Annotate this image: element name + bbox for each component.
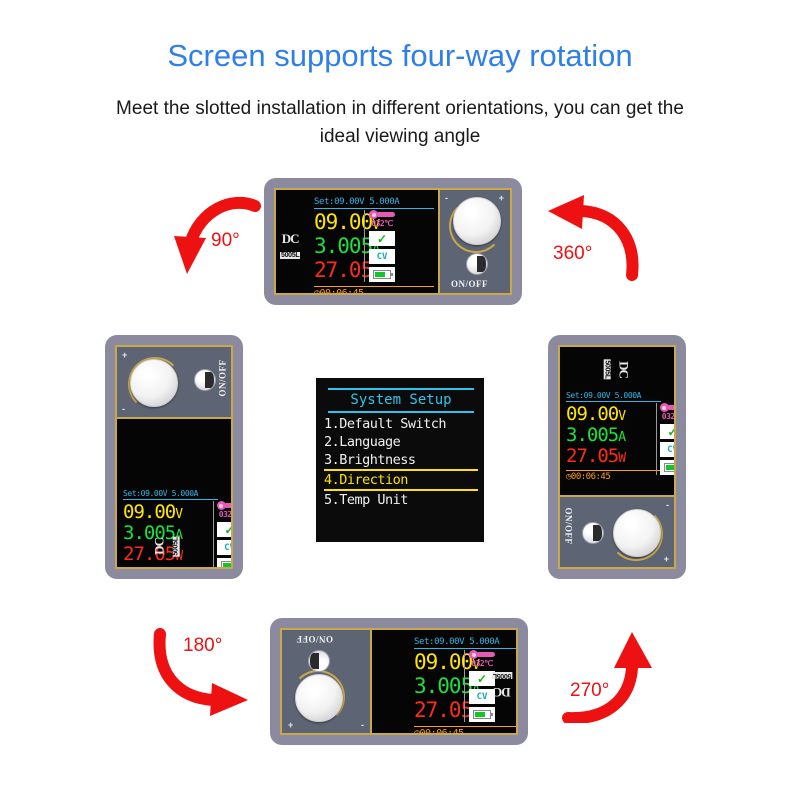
status-icon-column: 032℃ ✓ CV [364,210,396,282]
mode-label: CV [377,252,388,262]
onoff-label: ON/OFF [296,634,333,644]
check-icon: ✓ [377,233,387,245]
output-ok-indicator: ✓ [660,424,675,439]
timer-value: 00:06:45 [420,728,464,733]
brand-logo: DC 5005L [153,536,182,556]
mode-indicator: CV [217,540,232,555]
menu-item-language[interactable]: 2.Language [324,433,478,451]
status-icon-column: 032℃ ✓ CV [656,403,674,475]
thermometer-icon [369,210,395,219]
rotary-knob[interactable] [295,674,343,722]
page-subtitle: Meet the slotted installation in differe… [100,95,700,151]
control-panel-right: + - ON/OFF [560,495,674,567]
battery-icon [473,710,491,719]
check-icon: ✓ [667,426,674,438]
device-top: DC 5005L Set:09.00V 5.000A 09.00V 3.005A… [264,178,522,305]
setpoint-line: Set:09.00V 5.000A [314,197,434,209]
mode-indicator: CV [660,442,675,457]
temperature-value: 032℃ [662,412,674,421]
control-panel-left: + - ON/OFF [117,347,231,419]
brand-logo: DC 5005L [602,359,631,379]
thermometer-icon [469,650,495,659]
brand-logo: DC 5005L [492,670,512,699]
onoff-label: ON/OFF [451,279,488,289]
timer-readout: ◷00:06:45 [314,286,434,293]
timer-readout: ◷00:06:45 [566,470,661,482]
plus-mark: + [288,720,293,730]
menu-item-brightness[interactable]: 3.Brightness [324,451,478,469]
menu-item-default-switch[interactable]: 1.Default Switch [324,415,478,433]
temperature-value: 032℃ [219,510,231,519]
power-button-icon[interactable] [308,650,330,672]
rotation-label-360: 360° [553,243,592,265]
current-unit: A [618,430,625,445]
check-icon: ✓ [477,673,487,685]
current-readout: 3.005A [566,426,661,447]
status-icon-column: 032℃ ✓ CV [213,501,231,567]
rotary-knob[interactable] [613,509,661,557]
readout-group-right: Set:09.00V 5.000A 09.00V 3.005A 27.05W ◷… [566,391,661,482]
device-right: DC 5005L Set:09.00V 5.000A 09.00V 3.005A… [548,335,686,579]
battery-icon [221,561,232,567]
menu-title: System Setup [328,388,474,413]
voltage-readout: 09.00V [123,503,218,524]
brand-model: 5005L [173,536,180,556]
brand-logo: DC 5005L [280,232,300,261]
temperature-value: 032℃ [371,219,392,228]
menu-item-direction[interactable]: 4.Direction [324,469,478,491]
battery-indicator [660,460,675,475]
minus-mark: - [361,720,364,730]
battery-icon [373,270,391,279]
output-ok-indicator: ✓ [217,522,232,537]
lcd-screen-top: DC 5005L Set:09.00V 5.000A 09.00V 3.005A… [276,190,438,293]
voltage-unit: V [175,507,182,522]
device-left: + - ON/OFF Set:09.00V 5.000A 09.00V 3.00… [105,335,243,579]
rotation-arrow-360 [530,193,645,281]
onoff-label: ON/OFF [218,360,228,397]
current-value: 3.005 [566,424,618,446]
check-icon: ✓ [224,524,231,536]
lcd-screen-right: DC 5005L Set:09.00V 5.000A 09.00V 3.005A… [560,347,674,495]
minus-mark: - [445,193,448,203]
rotation-label-180: 180° [183,635,222,657]
rotary-knob[interactable] [130,359,178,407]
thermometer-icon [660,403,675,412]
mode-indicator: CV [369,249,395,264]
mode-label: CV [477,692,488,702]
rotary-knob[interactable] [453,197,501,245]
plus-mark: + [499,193,504,203]
menu-item-temp-unit[interactable]: 5.Temp Unit [324,491,478,509]
power-value: 27.05 [566,445,618,467]
lcd-screen-bottom: Set:09.00V 5.000A 09.00V 3.005A 27.05W ◷… [372,630,516,733]
voltage-unit: V [618,409,625,424]
setpoint-line: Set:09.00V 5.000A [123,489,218,500]
power-button-icon[interactable] [582,522,604,544]
rotation-arrow-270 [538,628,658,723]
battery-indicator [369,267,395,282]
mode-label: CV [224,543,231,553]
temperature-value: 032℃ [471,659,492,668]
brand-name: DC [153,536,166,556]
device-bottom: + - ON/OFF Set:09.00V 5.000A 09.00V 3.00… [270,618,528,745]
timer-readout: ◷00:06:45 [414,726,516,733]
power-readout: 27.05W [566,447,661,468]
voltage-value: 09.00 [566,403,618,425]
control-panel-bottom: + - ON/OFF [282,630,372,733]
output-ok-indicator: ✓ [369,231,395,246]
brand-name: DC [492,686,512,699]
plus-mark: + [122,350,127,360]
rotation-label-270: 270° [570,680,609,702]
onoff-label: ON/OFF [564,508,574,545]
brand-name: DC [280,232,300,245]
timer-value: 00:06:45 [571,472,610,482]
system-setup-menu: System Setup 1.Default Switch 2.Language… [316,378,484,542]
power-button-icon[interactable] [194,369,216,391]
lcd-screen-left: Set:09.00V 5.000A 09.00V 3.005A 27.05W ◷… [117,419,231,567]
voltage-readout: 09.00V [566,405,661,426]
mode-label: CV [667,445,674,455]
brand-model: 5005L [604,359,611,379]
power-unit: W [618,451,625,466]
brand-model: 5005L [280,252,300,259]
voltage-value: 09.00 [123,501,175,523]
control-panel-top: - + ON/OFF [438,190,510,293]
thermometer-icon [217,501,232,510]
minus-mark: - [122,404,125,414]
battery-icon [664,463,675,472]
setpoint-line: Set:09.00V 5.000A [566,391,661,402]
rotation-label-90: 90° [211,230,240,252]
brand-name: DC [618,359,631,379]
battery-indicator [217,558,232,567]
brand-model: 5005L [492,672,512,679]
battery-indicator [469,707,495,722]
minus-mark: - [666,500,669,510]
page-title: Screen supports four-way rotation [0,38,800,74]
power-button-icon[interactable] [466,253,488,275]
setpoint-line: Set:09.00V 5.000A [414,637,516,649]
timer-value: 00:06:45 [320,288,364,293]
plus-mark: + [664,554,669,564]
